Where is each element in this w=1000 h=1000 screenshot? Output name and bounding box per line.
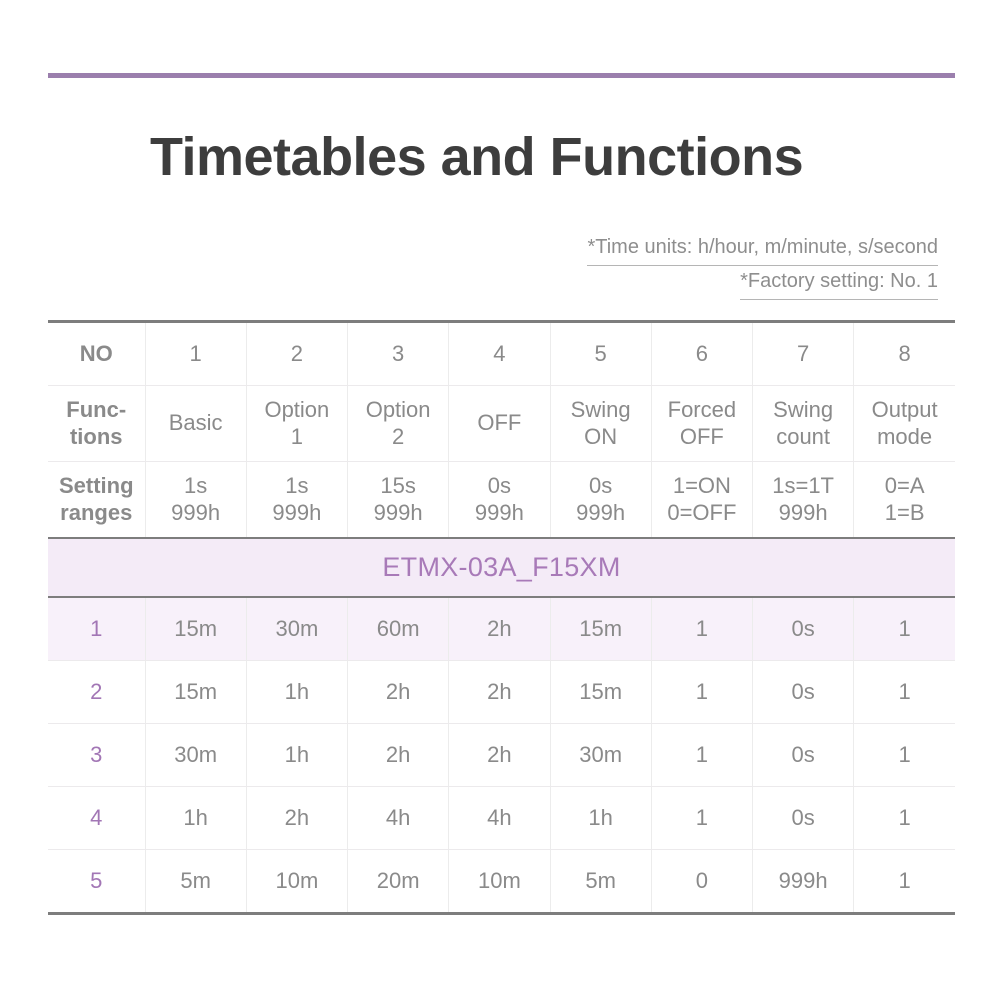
function-cell-5: Swing ON — [550, 386, 651, 462]
notes-block: *Time units: h/hour, m/minute, s/second … — [587, 232, 938, 300]
header-label-setting-line1: Setting — [50, 473, 143, 500]
function-cell-8: Output mode — [854, 386, 955, 462]
header-row-no: NO 1 2 3 4 5 6 7 8 — [48, 323, 955, 386]
setting-range-2-line2: 999h — [249, 500, 345, 527]
header-label-functions-line2: tions — [50, 424, 143, 451]
setting-range-4-line1: 0s — [451, 473, 547, 500]
setting-range-cell-1: 1s 999h — [145, 462, 246, 539]
cell-r2-c8: 1 — [854, 661, 955, 724]
cell-r4-c3: 4h — [348, 787, 449, 850]
function-cell-7: Swing count — [753, 386, 854, 462]
note-time-units-text: *Time units: h/hour, m/minute, s/second — [587, 232, 938, 266]
cell-r3-c2: 1h — [246, 724, 347, 787]
cell-r4-c7: 0s — [753, 787, 854, 850]
function-5-line1: Swing — [553, 397, 649, 424]
setting-range-cell-6: 1=ON 0=OFF — [651, 462, 752, 539]
cell-r2-c6: 1 — [651, 661, 752, 724]
cell-r5-c7: 999h — [753, 850, 854, 913]
setting-range-cell-5: 0s 999h — [550, 462, 651, 539]
setting-range-7-line2: 999h — [755, 500, 851, 527]
function-2-line1: Option — [249, 397, 345, 424]
cell-r5-c5: 5m — [550, 850, 651, 913]
function-cell-6: Forced OFF — [651, 386, 752, 462]
cell-r4-c4: 4h — [449, 787, 550, 850]
function-7-line2: count — [755, 424, 851, 451]
cell-r1-c5: 15m — [550, 597, 651, 661]
setting-range-2-line1: 1s — [249, 473, 345, 500]
timetables-page: Timetables and Functions *Time units: h/… — [0, 0, 1000, 1000]
setting-range-cell-3: 15s 999h — [348, 462, 449, 539]
function-cell-3: Option 2 — [348, 386, 449, 462]
cell-r4-c5: 1h — [550, 787, 651, 850]
row-number: 5 — [48, 850, 145, 913]
cell-r3-c8: 1 — [854, 724, 955, 787]
cell-r3-c6: 1 — [651, 724, 752, 787]
header-number-3: 3 — [348, 323, 449, 386]
cell-r1-c1: 15m — [145, 597, 246, 661]
cell-r3-c1: 30m — [145, 724, 246, 787]
function-2-line2: 1 — [249, 424, 345, 451]
row-number: 4 — [48, 787, 145, 850]
cell-r2-c2: 1h — [246, 661, 347, 724]
cell-r1-c4: 2h — [449, 597, 550, 661]
cell-r5-c6: 0 — [651, 850, 752, 913]
setting-range-cell-7: 1s=1T 999h — [753, 462, 854, 539]
cell-r4-c8: 1 — [854, 787, 955, 850]
cell-r4-c2: 2h — [246, 787, 347, 850]
cell-r1-c8: 1 — [854, 597, 955, 661]
cell-r3-c4: 2h — [449, 724, 550, 787]
header-number-4: 4 — [449, 323, 550, 386]
header-label-functions: Func- tions — [48, 386, 145, 462]
cell-r4-c6: 1 — [651, 787, 752, 850]
row-number: 2 — [48, 661, 145, 724]
note-factory-setting-text: *Factory setting: No. 1 — [740, 266, 938, 300]
setting-range-3-line2: 999h — [350, 500, 446, 527]
function-3-line2: 2 — [350, 424, 446, 451]
cell-r1-c6: 1 — [651, 597, 752, 661]
setting-range-5-line2: 999h — [553, 500, 649, 527]
table-row[interactable]: 4 1h 2h 4h 4h 1h 1 0s 1 — [48, 787, 955, 850]
header-label-functions-line1: Func- — [50, 397, 143, 424]
header-number-6: 6 — [651, 323, 752, 386]
setting-range-6-line2: 0=OFF — [654, 500, 750, 527]
function-3-line1: Option — [350, 397, 446, 424]
row-number: 1 — [48, 597, 145, 661]
header-number-8: 8 — [854, 323, 955, 386]
cell-r3-c5: 30m — [550, 724, 651, 787]
table-row[interactable]: 3 30m 1h 2h 2h 30m 1 0s 1 — [48, 724, 955, 787]
header-label-no: NO — [48, 323, 145, 386]
cell-r5-c1: 5m — [145, 850, 246, 913]
cell-r5-c8: 1 — [854, 850, 955, 913]
row-number: 3 — [48, 724, 145, 787]
header-number-7: 7 — [753, 323, 854, 386]
setting-range-4-line2: 999h — [451, 500, 547, 527]
cell-r1-c7: 0s — [753, 597, 854, 661]
cell-r3-c7: 0s — [753, 724, 854, 787]
setting-range-8-line1: 0=A — [856, 473, 953, 500]
setting-range-3-line1: 15s — [350, 473, 446, 500]
table-row[interactable]: 5 5m 10m 20m 10m 5m 0 999h 1 — [48, 850, 955, 913]
table-row[interactable]: 2 15m 1h 2h 2h 15m 1 0s 1 — [48, 661, 955, 724]
header-row-setting-ranges: Setting ranges 1s 999h 1s 999h 15s 999h — [48, 462, 955, 539]
timetable-container: NO 1 2 3 4 5 6 7 8 Func- tions B — [48, 320, 955, 915]
cell-r2-c3: 2h — [348, 661, 449, 724]
function-8-line1: Output — [856, 397, 953, 424]
setting-range-1-line1: 1s — [148, 473, 244, 500]
setting-range-6-line1: 1=ON — [654, 473, 750, 500]
header-label-setting-line2: ranges — [50, 500, 143, 527]
top-accent-rule — [48, 73, 955, 78]
cell-r5-c2: 10m — [246, 850, 347, 913]
function-cell-2: Option 1 — [246, 386, 347, 462]
function-5-line2: ON — [553, 424, 649, 451]
cell-r2-c5: 15m — [550, 661, 651, 724]
header-number-1: 1 — [145, 323, 246, 386]
model-band-label: ETMX-03A_F15XM — [48, 538, 955, 597]
function-cell-4: OFF — [449, 386, 550, 462]
function-cell-1: Basic — [145, 386, 246, 462]
setting-range-cell-8: 0=A 1=B — [854, 462, 955, 539]
cell-r2-c1: 15m — [145, 661, 246, 724]
timetable: NO 1 2 3 4 5 6 7 8 Func- tions B — [48, 323, 955, 912]
function-1-line1: Basic — [148, 410, 244, 437]
header-number-5: 5 — [550, 323, 651, 386]
note-time-units: *Time units: h/hour, m/minute, s/second — [587, 232, 938, 266]
cell-r5-c3: 20m — [348, 850, 449, 913]
header-label-setting-ranges: Setting ranges — [48, 462, 145, 539]
setting-range-1-line2: 999h — [148, 500, 244, 527]
function-8-line2: mode — [856, 424, 953, 451]
setting-range-cell-2: 1s 999h — [246, 462, 347, 539]
cell-r1-c2: 30m — [246, 597, 347, 661]
cell-r2-c4: 2h — [449, 661, 550, 724]
function-6-line2: OFF — [654, 424, 750, 451]
page-title: Timetables and Functions — [150, 128, 803, 187]
setting-range-8-line2: 1=B — [856, 500, 953, 527]
header-number-2: 2 — [246, 323, 347, 386]
model-band-row: ETMX-03A_F15XM — [48, 538, 955, 597]
table-row[interactable]: 1 15m 30m 60m 2h 15m 1 0s 1 — [48, 597, 955, 661]
setting-range-7-line1: 1s=1T — [755, 473, 851, 500]
function-7-line1: Swing — [755, 397, 851, 424]
function-4-line1: OFF — [451, 410, 547, 437]
header-row-functions: Func- tions Basic Option 1 Option 2 — [48, 386, 955, 462]
setting-range-5-line1: 0s — [553, 473, 649, 500]
cell-r4-c1: 1h — [145, 787, 246, 850]
cell-r1-c3: 60m — [348, 597, 449, 661]
function-6-line1: Forced — [654, 397, 750, 424]
note-factory-setting: *Factory setting: No. 1 — [587, 266, 938, 300]
cell-r5-c4: 10m — [449, 850, 550, 913]
cell-r2-c7: 0s — [753, 661, 854, 724]
cell-r3-c3: 2h — [348, 724, 449, 787]
setting-range-cell-4: 0s 999h — [449, 462, 550, 539]
